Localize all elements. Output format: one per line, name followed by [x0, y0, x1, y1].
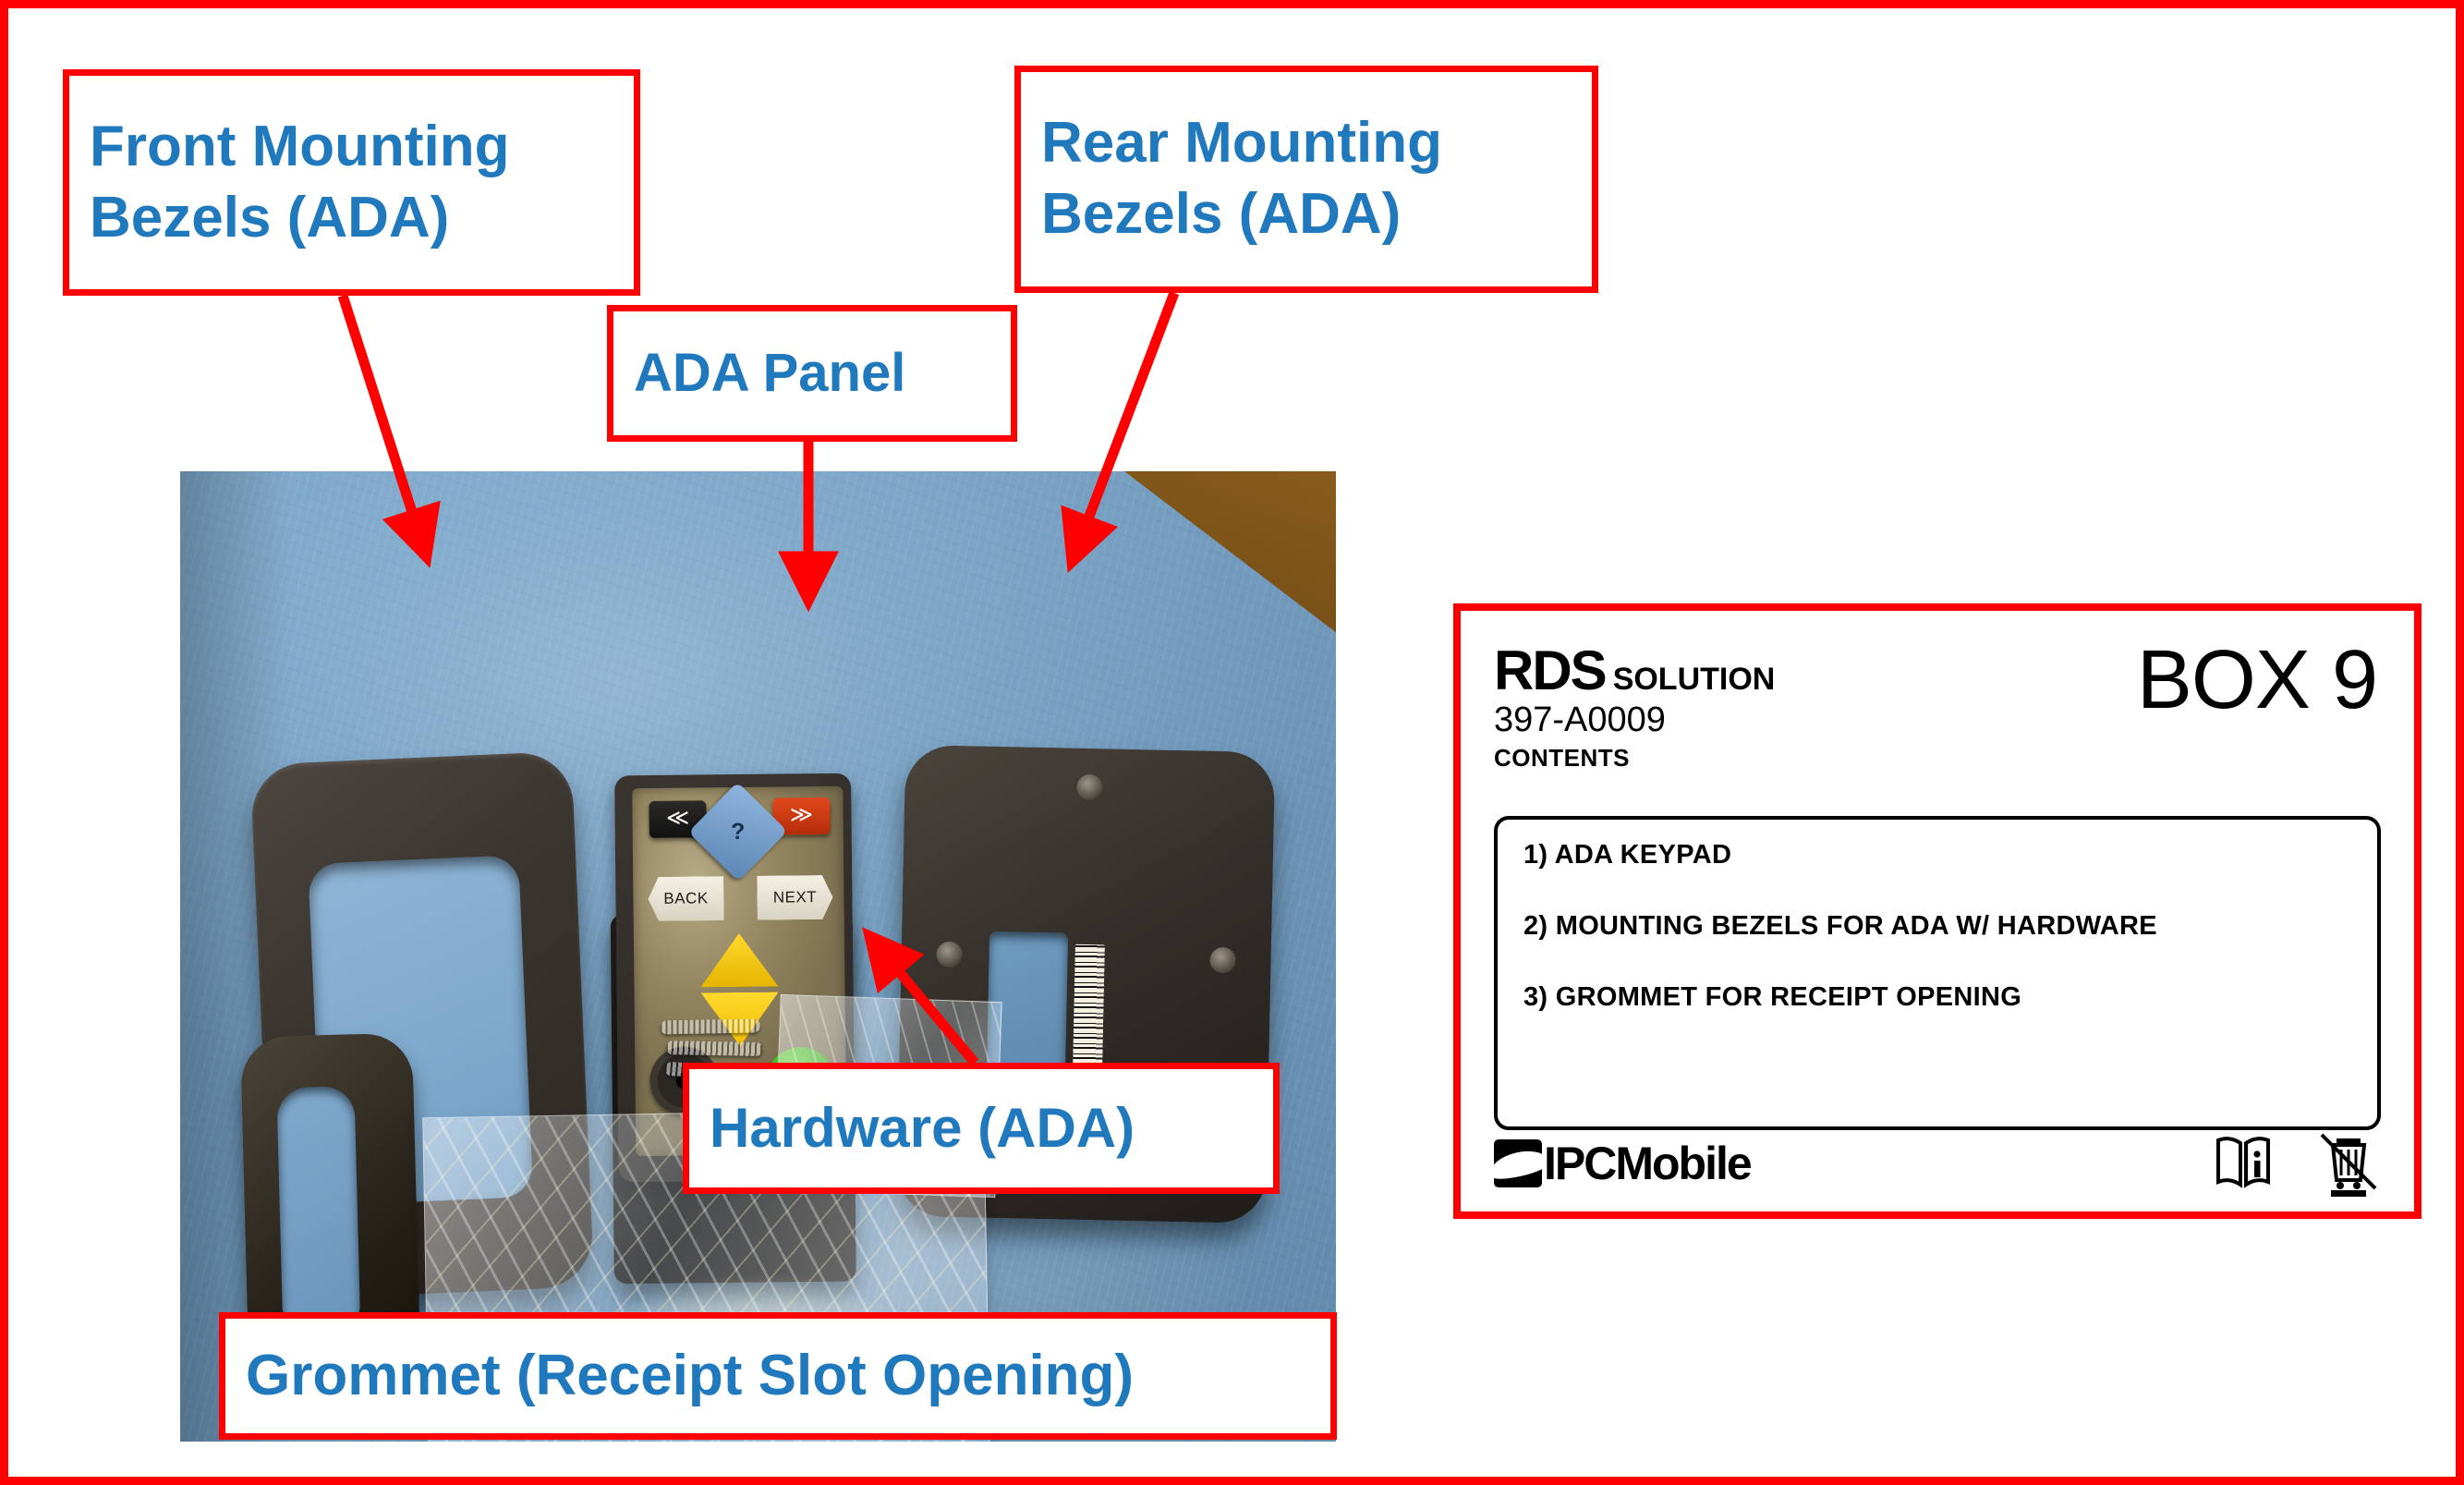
callout-rear-mounting-bezels[interactable]: Rear Mounting Bezels (ADA): [1014, 66, 1598, 293]
compliance-icons: [2211, 1129, 2381, 1198]
callout-line-2: Bezels (ADA): [1041, 179, 1572, 250]
arrow-up-icon: [700, 933, 779, 988]
callout-text: ADA Panel: [613, 340, 1011, 407]
help-icon: ?: [702, 797, 773, 868]
next-button: NEXT: [757, 875, 832, 920]
callout-text: Hardware (ADA): [689, 1094, 1273, 1162]
barcode-sticker: [1073, 944, 1105, 1080]
contents-item: 1) ADA KEYPAD: [1523, 840, 2351, 870]
callout-ada-panel[interactable]: ADA Panel: [607, 305, 1017, 442]
callout-line-2: Bezels (ADA): [90, 183, 613, 254]
company-name: IPCMobile: [1544, 1137, 1751, 1190]
label-footer: IPCMobile: [1494, 1128, 2381, 1199]
weee-bin-icon: [2316, 1129, 2381, 1198]
callout-line-1: Front Mounting: [90, 112, 613, 183]
label-header: RDS SOLUTION 397-A0009 CONTENTS BOX 9: [1494, 639, 2381, 777]
label-inner: RDS SOLUTION 397-A0009 CONTENTS BOX 9 1)…: [1461, 611, 2414, 1211]
callout-text: Grommet (Receipt Slot Opening): [225, 1341, 1330, 1412]
callout-text: Rear Mounting Bezels (ADA): [1021, 108, 1592, 250]
brand-suffix: SOLUTION: [1613, 662, 1776, 698]
back-button: BACK: [648, 876, 723, 921]
consult-instructions-icon: [2211, 1131, 2276, 1196]
parts-photograph: ≪ ≫ ? BACK NEXT: [180, 471, 1336, 1442]
ipcmobile-logo: IPCMobile: [1494, 1137, 1751, 1190]
grommet-opening: [276, 1086, 360, 1337]
screw-boss: [1076, 774, 1103, 801]
callout-grommet[interactable]: Grommet (Receipt Slot Opening): [219, 1312, 1337, 1440]
box-label: RDS SOLUTION 397-A0009 CONTENTS BOX 9 1)…: [1453, 603, 2422, 1219]
diagram-canvas: ≪ ≫ ? BACK NEXT: [0, 0, 2464, 1485]
contents-list-box: 1) ADA KEYPAD 2) MOUNTING BEZELS FOR ADA…: [1494, 816, 2381, 1130]
screw-boss: [936, 942, 963, 968]
ipc-mark-icon: [1494, 1139, 1542, 1187]
brand-name: RDS: [1494, 639, 1606, 702]
callout-front-mounting-bezels[interactable]: Front Mounting Bezels (ADA): [63, 69, 640, 296]
contents-heading: CONTENTS: [1494, 744, 2381, 773]
box-number: BOX 9: [2137, 633, 2377, 728]
contents-list: 1) ADA KEYPAD 2) MOUNTING BEZELS FOR ADA…: [1523, 840, 2351, 1013]
callout-hardware[interactable]: Hardware (ADA): [683, 1063, 1280, 1194]
screw: [666, 1041, 762, 1056]
help-button: ?: [688, 782, 787, 881]
contents-item: 2) MOUNTING BEZELS FOR ADA W/ HARDWARE: [1523, 911, 2351, 942]
callout-line-1: Rear Mounting: [1041, 108, 1572, 179]
screw-boss: [1209, 947, 1236, 974]
screw: [661, 1018, 760, 1034]
callout-text: Front Mounting Bezels (ADA): [69, 112, 634, 254]
contents-item: 3) GROMMET FOR RECEIPT OPENING: [1523, 982, 2351, 1013]
